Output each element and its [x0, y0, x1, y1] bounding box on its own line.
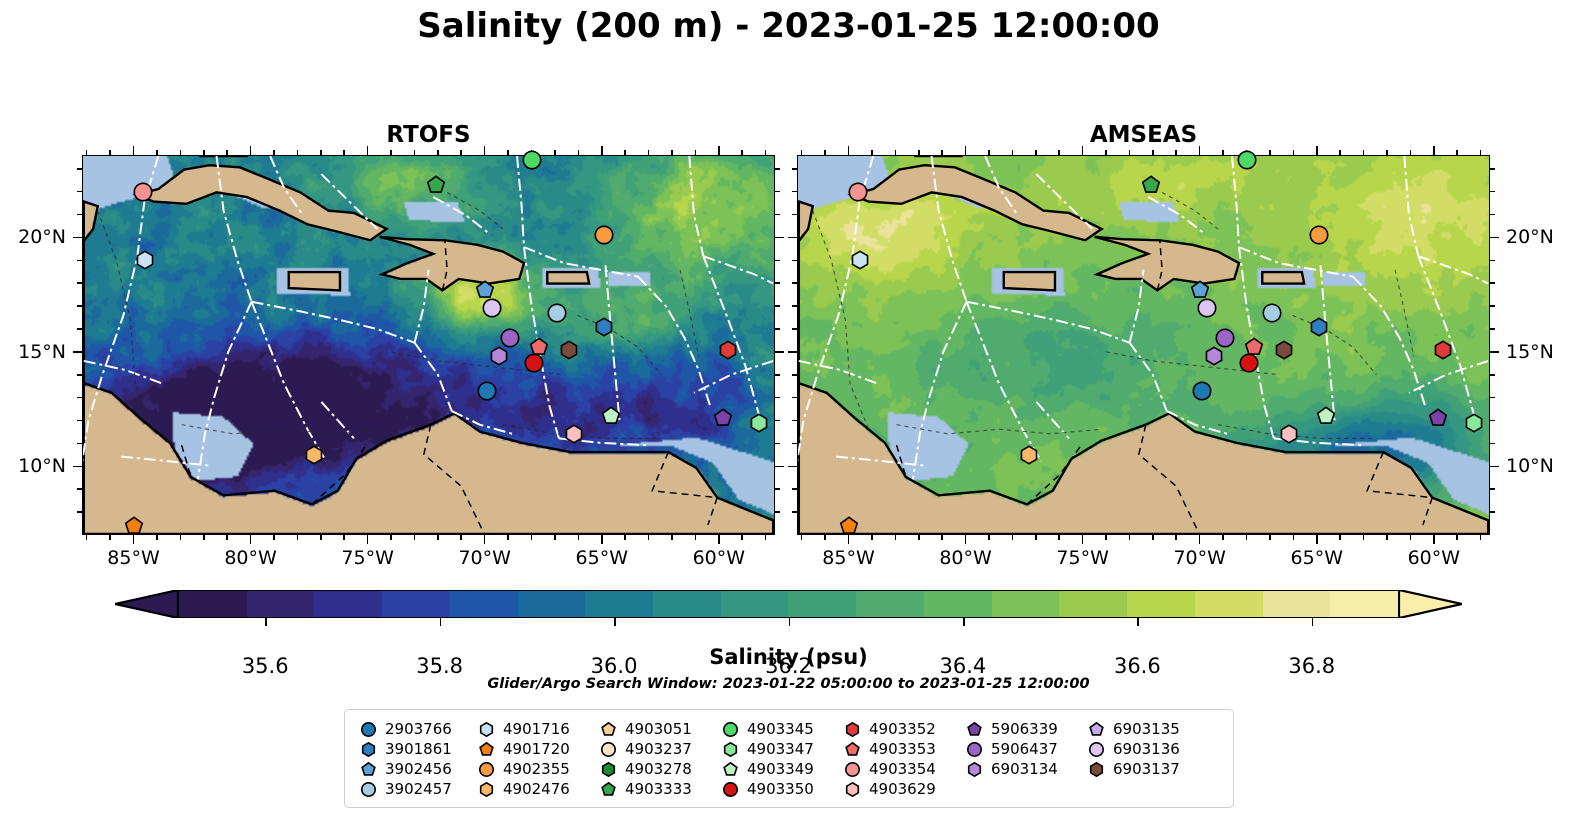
x-tick-minor [1222, 535, 1224, 540]
legend-label: 4901720 [503, 740, 570, 758]
legend-marker-pentagon-icon [355, 762, 381, 777]
x-tick-minor [1293, 150, 1295, 155]
x-tick-minor [1222, 150, 1224, 155]
colorbar-band-9 [788, 591, 856, 617]
legend-label: 3902457 [385, 780, 452, 798]
float-marker-5906437[interactable] [501, 329, 520, 348]
y-tick-minor [775, 305, 780, 307]
legend-label: 6903135 [1113, 720, 1180, 738]
float-marker-2903766[interactable] [478, 381, 497, 400]
y-tick-minor [77, 282, 82, 284]
x-tick [250, 146, 252, 155]
x-tick-minor [741, 535, 743, 540]
eez-boundary [638, 277, 710, 407]
y-tick-minor [77, 443, 82, 445]
eez-boundary [1320, 265, 1334, 420]
float-marker-6903136[interactable] [1197, 299, 1216, 318]
legend-label: 6903137 [1113, 760, 1180, 778]
float-marker-4903350[interactable] [1239, 354, 1258, 373]
colorbar-ticks: 35.635.836.036.236.436.636.8 [115, 618, 1462, 630]
y-tick-minor [1490, 214, 1495, 216]
y-tick-minor [77, 168, 82, 170]
y-tick-minor [792, 328, 797, 330]
legend-item-6903136[interactable]: 6903136 [1083, 739, 1205, 759]
legend-label: 4903353 [869, 740, 936, 758]
colorbar-band-8 [721, 591, 789, 617]
y-tick-minor [775, 260, 780, 262]
x-tick-minor [390, 535, 392, 540]
legend-marker-pentagon-icon [717, 762, 743, 777]
legend-item-4903354[interactable]: 4903354 [839, 759, 961, 779]
legend-item-6903137[interactable]: 6903137 [1083, 759, 1205, 779]
legend-item-4901720[interactable]: 4901720 [473, 739, 595, 759]
y-tick [1490, 351, 1499, 353]
y-tick-minor [77, 191, 82, 193]
x-tick-minor [801, 535, 803, 540]
y-tick-minor [775, 374, 780, 376]
x-tick [718, 535, 720, 544]
eez-boundary [452, 411, 513, 434]
y-tick [775, 237, 784, 239]
y-tick-minor [775, 282, 780, 284]
country-border [424, 425, 485, 534]
x-ticklabel: 65°W [576, 547, 628, 569]
colorbar-tick [963, 618, 965, 626]
x-tick-minor [671, 535, 673, 540]
legend-label: 3902456 [385, 760, 452, 778]
legend-item-5906437[interactable]: 5906437 [961, 739, 1083, 759]
legend-marker-circle-icon [355, 782, 381, 797]
eez-boundary [799, 361, 878, 384]
panel-title-amseas: AMSEAS [797, 122, 1490, 148]
legend-label: 4902476 [503, 780, 570, 798]
float-marker-4901720[interactable] [839, 516, 858, 535]
legend-label: 4903278 [625, 760, 692, 778]
legend-label: 4903051 [625, 720, 692, 738]
legend-item-4903051[interactable]: 4903051 [595, 719, 717, 739]
y-tick-minor [775, 397, 780, 399]
y-tick [1490, 237, 1499, 239]
y-tick-minor [77, 305, 82, 307]
legend-item-4903629[interactable]: 4903629 [839, 779, 961, 799]
x-tick-minor [343, 150, 345, 155]
eez-boundary [415, 343, 452, 411]
x-tick-minor [1105, 535, 1107, 540]
eez-boundary [967, 302, 1042, 461]
eez-boundary [605, 265, 619, 420]
x-tick-minor [86, 535, 88, 540]
float-marker-4902476[interactable] [304, 445, 323, 464]
legend-label: 2903766 [385, 720, 452, 738]
legend-label: 5906339 [991, 720, 1058, 738]
colorbar-extend-max [1399, 590, 1462, 618]
eez-boundary [703, 256, 773, 283]
legend-column-5: 590633959064376903134 [961, 719, 1083, 799]
bathymetry-contour [680, 270, 699, 356]
eez-boundary [415, 270, 429, 343]
x-tick-minor [988, 535, 990, 540]
x-tick-minor [1456, 150, 1458, 155]
country-border [1423, 498, 1432, 525]
float-marker-4903345[interactable] [522, 150, 541, 169]
x-tick-minor [918, 150, 920, 155]
x-ticklabel: 75°W [341, 547, 393, 569]
x-tick-minor [1386, 150, 1388, 155]
float-marker-6903134[interactable] [489, 347, 508, 366]
legend-marker-circle-icon [595, 742, 621, 757]
x-tick-minor [871, 535, 873, 540]
x-tick-minor [203, 535, 205, 540]
legend-item-4903345[interactable]: 4903345 [717, 719, 839, 739]
x-tick-minor [320, 150, 322, 155]
legend-column-6: 690313569031366903137 [1083, 719, 1205, 799]
x-tick-minor [297, 150, 299, 155]
eez-boundary [84, 361, 163, 384]
legend-marker-circle-icon [717, 722, 743, 737]
eez-boundary [217, 156, 252, 302]
legend-label: 4903237 [625, 740, 692, 758]
legend-marker-hexagon-icon [839, 782, 865, 797]
float-marker-4902476[interactable] [1019, 445, 1038, 464]
x-tick-minor [273, 535, 275, 540]
legend-column-0: 2903766390186139024563902457 [355, 719, 473, 799]
float-marker-3902456[interactable] [475, 281, 494, 300]
coastline [851, 165, 1101, 240]
x-tick-minor [86, 150, 88, 155]
y-tick-minor [77, 214, 82, 216]
x-ticklabel: 85°W [107, 547, 159, 569]
x-tick [133, 535, 135, 544]
y-tick-minor [1490, 443, 1495, 445]
colorbar-band-14 [1127, 591, 1195, 617]
legend-label: 4903354 [869, 760, 936, 778]
legend-item-4903278[interactable]: 4903278 [595, 759, 717, 779]
float-marker-4901716[interactable] [136, 251, 155, 270]
y-ticklabel-right: 20°N [1506, 226, 1554, 248]
x-tick [965, 146, 967, 155]
colorbar-band-16 [1263, 591, 1331, 617]
eez-boundary [517, 156, 524, 247]
float-marker-4903345[interactable] [1237, 150, 1256, 169]
eez-boundary [433, 197, 489, 233]
float-marker-4901720[interactable] [124, 516, 143, 535]
float-marker-4902355[interactable] [595, 226, 614, 245]
x-tick-minor [1410, 150, 1412, 155]
eez-boundary [913, 302, 967, 480]
float-marker-6903137[interactable] [559, 340, 578, 359]
y-tick-minor [77, 397, 82, 399]
legend-marker-pentagon-icon [961, 722, 987, 737]
x-tick-minor [226, 535, 228, 540]
legend-marker-hexagon-icon [595, 762, 621, 777]
legend-label: 4902355 [503, 760, 570, 778]
y-tick-minor [1490, 282, 1495, 284]
legend-column-2: 4903051490323749032784903333 [595, 719, 717, 799]
coastline [1262, 272, 1304, 283]
eez-boundary [1353, 277, 1425, 407]
legend-grid: 2903766390186139024563902457490171649017… [355, 719, 1223, 799]
legend-item-4901716[interactable]: 4901716 [473, 719, 595, 739]
eez-boundary [703, 256, 759, 415]
panel-title-rtofs: RTOFS [82, 122, 775, 148]
colorbar-gradient [178, 590, 1399, 618]
legend-item-4903333[interactable]: 4903333 [595, 779, 717, 799]
x-tick-minor [1363, 535, 1365, 540]
colorbar-band-13 [1059, 591, 1127, 617]
x-tick-minor [1456, 535, 1458, 540]
legend-item-5906339[interactable]: 5906339 [961, 719, 1083, 739]
x-tick-minor [437, 535, 439, 540]
legend-item-4903352[interactable]: 4903352 [839, 719, 961, 739]
legend-label: 4903350 [747, 780, 814, 798]
eez-boundary [121, 457, 209, 466]
eez-boundary [1167, 411, 1228, 434]
legend-marker-hexagon-icon [473, 782, 499, 797]
legend-item-3902457[interactable]: 3902457 [355, 779, 473, 799]
x-tick-minor [1363, 150, 1365, 155]
y-tick-minor [792, 443, 797, 445]
colorbar-label: Salinity (psu) [0, 645, 1577, 669]
x-tick-minor [414, 150, 416, 155]
x-tick-minor [1246, 535, 1248, 540]
float-marker-4903350[interactable] [524, 354, 543, 373]
page-title: Salinity (200 m) - 2023-01-25 12:00:00 [0, 6, 1577, 46]
coastline [1004, 272, 1055, 290]
float-marker-4903629[interactable] [1279, 425, 1298, 444]
y-tick-minor [77, 511, 82, 513]
eez-boundary [1130, 343, 1167, 411]
float-marker-2903766[interactable] [1193, 381, 1212, 400]
x-tick-minor [1175, 535, 1177, 540]
x-tick-minor [624, 150, 626, 155]
country-border [708, 498, 717, 525]
legend-label: 6903134 [991, 760, 1058, 778]
legend-item-6903134[interactable]: 6903134 [961, 759, 1083, 779]
x-tick-minor [1410, 535, 1412, 540]
legend-item-3902456[interactable]: 3902456 [355, 759, 473, 779]
legend-marker-circle-icon [355, 722, 381, 737]
legend-item-3901861[interactable]: 3901861 [355, 739, 473, 759]
x-tick-minor [1293, 535, 1295, 540]
float-marker-4903333[interactable] [1141, 175, 1160, 194]
x-tick-minor [414, 535, 416, 540]
legend-marker-pentagon-icon [473, 742, 499, 757]
y-tick-minor [792, 397, 797, 399]
x-tick-minor [1012, 535, 1014, 540]
x-ticklabel: 70°W [1173, 547, 1225, 569]
legend-label: 4903352 [869, 720, 936, 738]
country-border [1139, 425, 1200, 534]
colorbar-band-15 [1195, 591, 1263, 617]
x-tick-minor [1058, 535, 1060, 540]
legend-item-4903350[interactable]: 4903350 [717, 779, 839, 799]
float-marker-4903349[interactable] [1317, 406, 1336, 425]
y-tick-minor [77, 420, 82, 422]
float-marker-4903333[interactable] [426, 175, 445, 194]
x-tick-minor [1058, 150, 1060, 155]
x-tick [484, 146, 486, 155]
x-tick [848, 146, 850, 155]
legend-item-4903237[interactable]: 4903237 [595, 739, 717, 759]
eez-boundary [932, 156, 967, 302]
legend-item-4902355[interactable]: 4902355 [473, 759, 595, 779]
x-tick-minor [895, 535, 897, 540]
y-tick-minor [792, 488, 797, 490]
x-tick-minor [1339, 535, 1341, 540]
x-tick-minor [824, 150, 826, 155]
colorbar-band-5 [518, 591, 586, 617]
x-tick-minor [1269, 150, 1271, 155]
float-marker-4903352[interactable] [1434, 340, 1453, 359]
float-marker-3901861[interactable] [595, 317, 614, 336]
float-marker-6903134[interactable] [1204, 347, 1223, 366]
float-marker-4903354[interactable] [848, 182, 867, 201]
float-marker-4903347[interactable] [749, 413, 768, 432]
legend-marker-hexagon-icon [1083, 762, 1109, 777]
legend-item-6903135[interactable]: 6903135 [1083, 719, 1205, 739]
x-tick [1199, 535, 1201, 544]
map-panel-rtofs[interactable] [82, 155, 775, 535]
colorbar-tick [1137, 618, 1139, 626]
map-overlay-amseas [798, 156, 1489, 534]
eez-boundary [836, 457, 924, 466]
float-marker-3902457[interactable] [548, 303, 567, 322]
map-panel-amseas[interactable] [797, 155, 1490, 535]
x-tick [1082, 535, 1084, 544]
x-tick [718, 146, 720, 155]
x-tick-minor [624, 535, 626, 540]
legend-marker-circle-icon [839, 762, 865, 777]
x-tick-minor [203, 150, 205, 155]
x-tick [1082, 146, 1084, 155]
x-tick-minor [1129, 150, 1131, 155]
x-tick-minor [531, 535, 533, 540]
colorbar-band-6 [585, 591, 653, 617]
x-tick-minor [648, 535, 650, 540]
y-tick-minor [792, 260, 797, 262]
float-marker-5906437[interactable] [1216, 329, 1235, 348]
x-tick [1433, 146, 1435, 155]
legend-item-2903766[interactable]: 2903766 [355, 719, 473, 739]
x-tick-minor [695, 535, 697, 540]
y-tick-minor [1490, 420, 1495, 422]
legend-item-4902476[interactable]: 4902476 [473, 779, 595, 799]
colorbar-band-4 [450, 591, 518, 617]
float-marker-5906339[interactable] [1429, 409, 1448, 428]
float-marker-4903347[interactable] [1464, 413, 1483, 432]
y-tick-minor [77, 488, 82, 490]
legend-marker-circle-icon [961, 742, 987, 757]
x-tick-minor [1035, 150, 1037, 155]
x-tick-minor [1035, 535, 1037, 540]
y-tick-minor [77, 260, 82, 262]
colorbar-band-3 [382, 591, 450, 617]
x-tick-minor [741, 150, 743, 155]
colorbar-band-11 [924, 591, 992, 617]
x-tick-minor [1175, 150, 1177, 155]
legend-label: 3901861 [385, 740, 452, 758]
float-marker-4903354[interactable] [133, 182, 152, 201]
colorbar-band-0 [179, 591, 247, 617]
float-marker-3902457[interactable] [1263, 303, 1282, 322]
float-marker-6903137[interactable] [1274, 340, 1293, 359]
x-tick [1199, 146, 1201, 155]
x-tick-minor [1480, 150, 1482, 155]
float-marker-5906339[interactable] [714, 409, 733, 428]
x-tick-minor [765, 150, 767, 155]
x-tick-minor [941, 150, 943, 155]
x-tick-minor [765, 535, 767, 540]
x-tick-minor [578, 535, 580, 540]
y-ticklabel-right: 15°N [1506, 341, 1554, 363]
x-tick [133, 146, 135, 155]
y-ticklabel-left: 20°N [4, 226, 66, 248]
float-marker-6903136[interactable] [482, 299, 501, 318]
x-tick-minor [1129, 535, 1131, 540]
y-tick [775, 351, 784, 353]
legend-label: 6903136 [1113, 740, 1180, 758]
x-tick-minor [109, 535, 111, 540]
y-ticklabel-right: 10°N [1506, 455, 1554, 477]
colorbar-band-17 [1330, 591, 1398, 617]
float-legend: 2903766390186139024563902457490171649017… [344, 709, 1234, 808]
x-tick-minor [180, 535, 182, 540]
legend-item-4903353[interactable]: 4903353 [839, 739, 961, 759]
x-tick-minor [156, 535, 158, 540]
coastline [289, 272, 340, 290]
y-tick-minor [1490, 328, 1495, 330]
x-tick-minor [1386, 535, 1388, 540]
legend-marker-hexagon-icon [717, 742, 743, 757]
y-tick-minor [792, 305, 797, 307]
x-tick-minor [988, 150, 990, 155]
legend-marker-pentagon-icon [595, 722, 621, 737]
float-marker-3901861[interactable] [1310, 317, 1329, 336]
bathymetry-contour [98, 211, 154, 430]
x-ticklabel: 60°W [693, 547, 745, 569]
legend-marker-circle-icon [1083, 742, 1109, 757]
y-tick-minor [1490, 397, 1495, 399]
x-tick-minor [895, 150, 897, 155]
x-tick-minor [1480, 535, 1482, 540]
float-marker-4901716[interactable] [851, 251, 870, 270]
y-tick-minor [1490, 305, 1495, 307]
eez-boundary [1404, 156, 1418, 256]
eez-boundary [1418, 256, 1474, 415]
colorbar-extend-min [115, 590, 178, 618]
y-tick-minor [792, 191, 797, 193]
country-border [652, 452, 717, 498]
float-marker-3902456[interactable] [1190, 281, 1209, 300]
x-tick-minor [918, 535, 920, 540]
legend-marker-hexagon-icon [473, 722, 499, 737]
y-tick-minor [1490, 374, 1495, 376]
legend-item-4903349[interactable]: 4903349 [717, 759, 839, 779]
float-marker-4903352[interactable] [719, 340, 738, 359]
float-marker-4903349[interactable] [602, 406, 621, 425]
colorbar-tick [265, 618, 267, 626]
y-tick-minor [775, 511, 780, 513]
legend-column-3: 4903345490334749033494903350 [717, 719, 839, 799]
float-marker-4902355[interactable] [1310, 226, 1329, 245]
y-tick-minor [775, 443, 780, 445]
legend-item-4903347[interactable]: 4903347 [717, 739, 839, 759]
y-tick-minor [1490, 260, 1495, 262]
eez-boundary [694, 361, 773, 393]
colorbar-band-10 [856, 591, 924, 617]
float-marker-4903629[interactable] [564, 425, 583, 444]
y-tick-minor [1490, 168, 1495, 170]
